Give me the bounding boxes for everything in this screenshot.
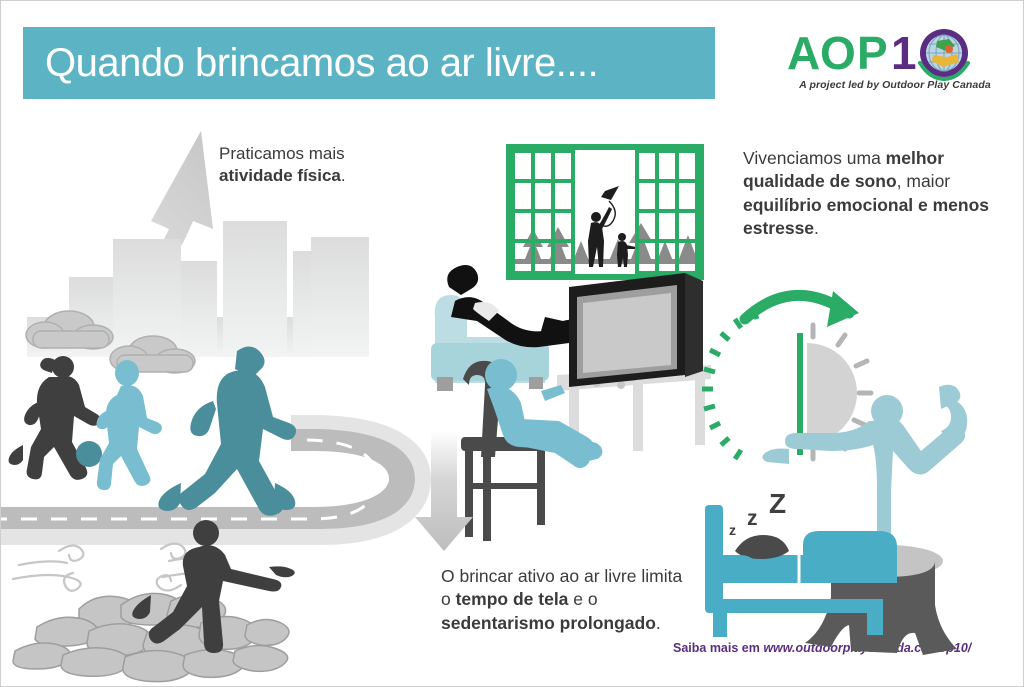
sleep-letters: Z z z	[729, 488, 786, 538]
ball-icon	[76, 441, 102, 467]
header-banner: Quando brincamos ao ar livre....	[23, 27, 715, 99]
sleep-letter-z-small: z	[729, 522, 736, 538]
sleep-letter-z-mid: z	[747, 507, 758, 530]
sleep-scene: Z z z	[691, 281, 1024, 671]
circular-green-arrow-icon	[745, 291, 859, 327]
sleep-text-plain-1: Vivenciamos uma	[743, 148, 886, 168]
flat-screen-tv	[569, 273, 703, 387]
screen-time-scene	[413, 131, 713, 561]
screen-text-plain-2: e o	[568, 589, 597, 609]
activity-scene	[1, 109, 431, 687]
running-child	[97, 360, 162, 490]
sleep-text-plain-3: .	[814, 218, 819, 238]
screen-text-bold-2: sedentarismo prolongado	[441, 613, 656, 633]
infographic-canvas: Quando brincamos ao ar livre.... A O P 1	[0, 0, 1024, 687]
logo-letter-p: P	[857, 27, 887, 79]
running-girl-with-ball	[9, 356, 102, 480]
moon-icon	[745, 343, 795, 443]
sleep-letter-z-large: Z	[769, 488, 786, 519]
green-dash-ring	[702, 309, 757, 459]
logo-letter-a: A	[787, 27, 819, 79]
sleep-text-bold-2: equilíbrio emocional e menos estresse	[743, 195, 989, 238]
globe-icon	[920, 29, 968, 79]
screen-text-plain-3: .	[656, 613, 661, 633]
sun-icon	[807, 343, 857, 443]
open-window-green	[509, 147, 701, 277]
logo-letter-o: O	[820, 27, 855, 79]
phone-icon	[541, 385, 565, 401]
page-title: Quando brincamos ao ar livre....	[23, 41, 598, 86]
logo-wordmark: A O P 1	[787, 27, 1003, 79]
screen-text-bold-1: tempo de tela	[456, 589, 569, 609]
logo-letter-one: 1	[891, 27, 917, 79]
aop10-logo: A O P 1	[787, 27, 1003, 101]
sleep-text-plain-2: , maior	[897, 171, 950, 191]
sleep-caption: Vivenciamos uma melhor qualidade de sono…	[743, 147, 1009, 240]
screen-time-caption: O brincar ativo ao ar livre limita o tem…	[441, 565, 693, 635]
logo-tagline: A project led by Outdoor Play Canada	[787, 79, 1003, 91]
